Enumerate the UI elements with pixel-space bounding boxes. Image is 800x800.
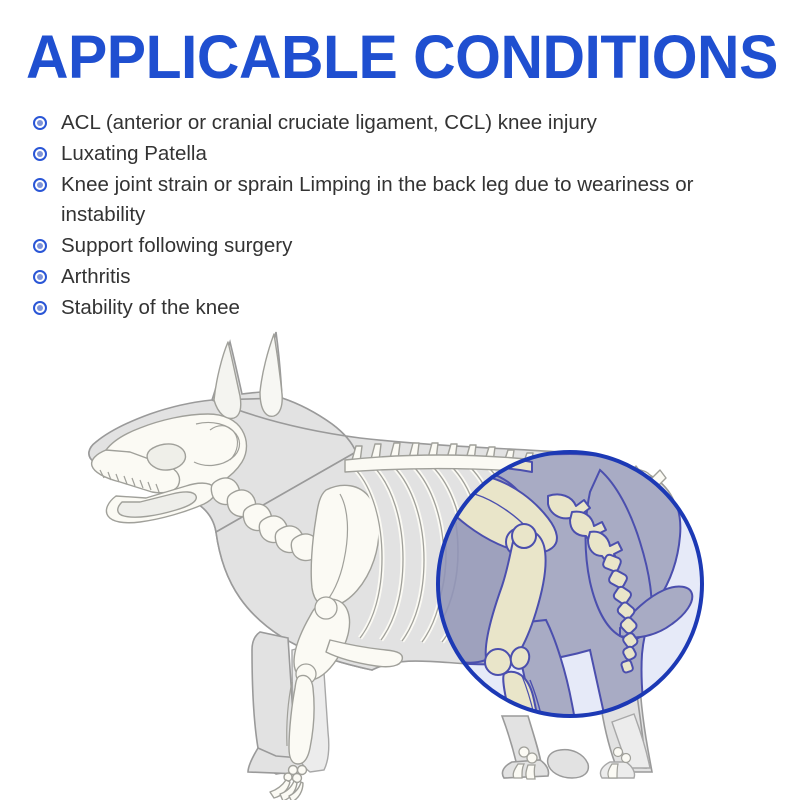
list-item: Knee joint strain or sprain Limping in t… (33, 170, 763, 230)
radio-dot-icon (33, 270, 47, 284)
hind-legs-lower (502, 714, 650, 779)
list-item-label: Support following surgery (61, 234, 292, 257)
page-title: APPLICABLE CONDITIONS (26, 26, 756, 88)
list-item-label: ACL (anterior or cranial cruciate ligame… (61, 111, 597, 134)
knee-highlight-circle (426, 452, 703, 800)
list-item: ACL (anterior or cranial cruciate ligame… (33, 108, 763, 138)
radio-dot-icon (33, 239, 47, 253)
list-item: Luxating Patella (33, 139, 763, 169)
list-item-label: Arthritis (61, 265, 130, 288)
radio-dot-icon (33, 178, 47, 192)
dog-skeleton-illustration (0, 320, 800, 800)
list-item: Arthritis (33, 262, 763, 292)
radio-dot-icon (33, 116, 47, 130)
list-item-label: Stability of the knee (61, 296, 240, 319)
applicable-conditions-list: ACL (anterior or cranial cruciate ligame… (33, 108, 763, 324)
poster-canvas: APPLICABLE CONDITIONS ACL (anterior or c… (0, 0, 800, 800)
radio-dot-icon (33, 147, 47, 161)
list-item-label: Knee joint strain or sprain Limping in t… (61, 173, 693, 226)
list-item: Stability of the knee (33, 293, 763, 323)
list-item: Support following surgery (33, 231, 763, 261)
radio-dot-icon (33, 301, 47, 315)
list-item-label: Luxating Patella (61, 142, 207, 165)
